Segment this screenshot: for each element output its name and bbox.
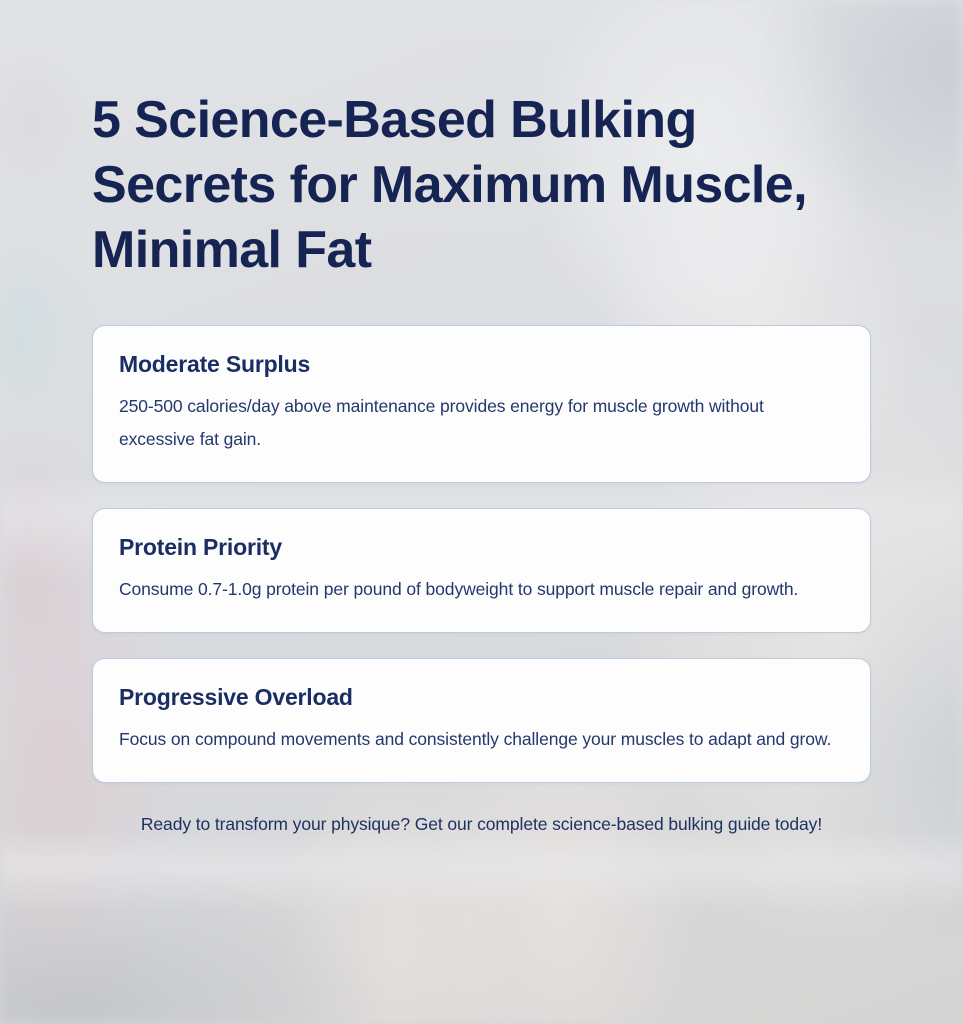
tip-card-moderate-surplus: Moderate Surplus 250-500 calories/day ab…	[92, 325, 871, 483]
call-to-action-text: Ready to transform your physique? Get ou…	[92, 808, 871, 841]
tip-card-protein-priority: Protein Priority Consume 0.7-1.0g protei…	[92, 508, 871, 633]
tips-card-list: Moderate Surplus 250-500 calories/day ab…	[92, 325, 871, 783]
tip-card-body: 250-500 calories/day above maintenance p…	[119, 390, 844, 456]
tip-card-title: Progressive Overload	[119, 683, 844, 711]
tip-card-title: Moderate Surplus	[119, 350, 844, 378]
page-title: 5 Science-Based Bulking Secrets for Maxi…	[92, 0, 852, 283]
tip-card-title: Protein Priority	[119, 533, 844, 561]
tip-card-body: Consume 0.7-1.0g protein per pound of bo…	[119, 573, 844, 606]
tip-card-progressive-overload: Progressive Overload Focus on compound m…	[92, 658, 871, 783]
poster-content: 5 Science-Based Bulking Secrets for Maxi…	[0, 0, 963, 841]
poster-canvas: 5 Science-Based Bulking Secrets for Maxi…	[0, 0, 963, 1024]
tip-card-body: Focus on compound movements and consiste…	[119, 723, 844, 756]
